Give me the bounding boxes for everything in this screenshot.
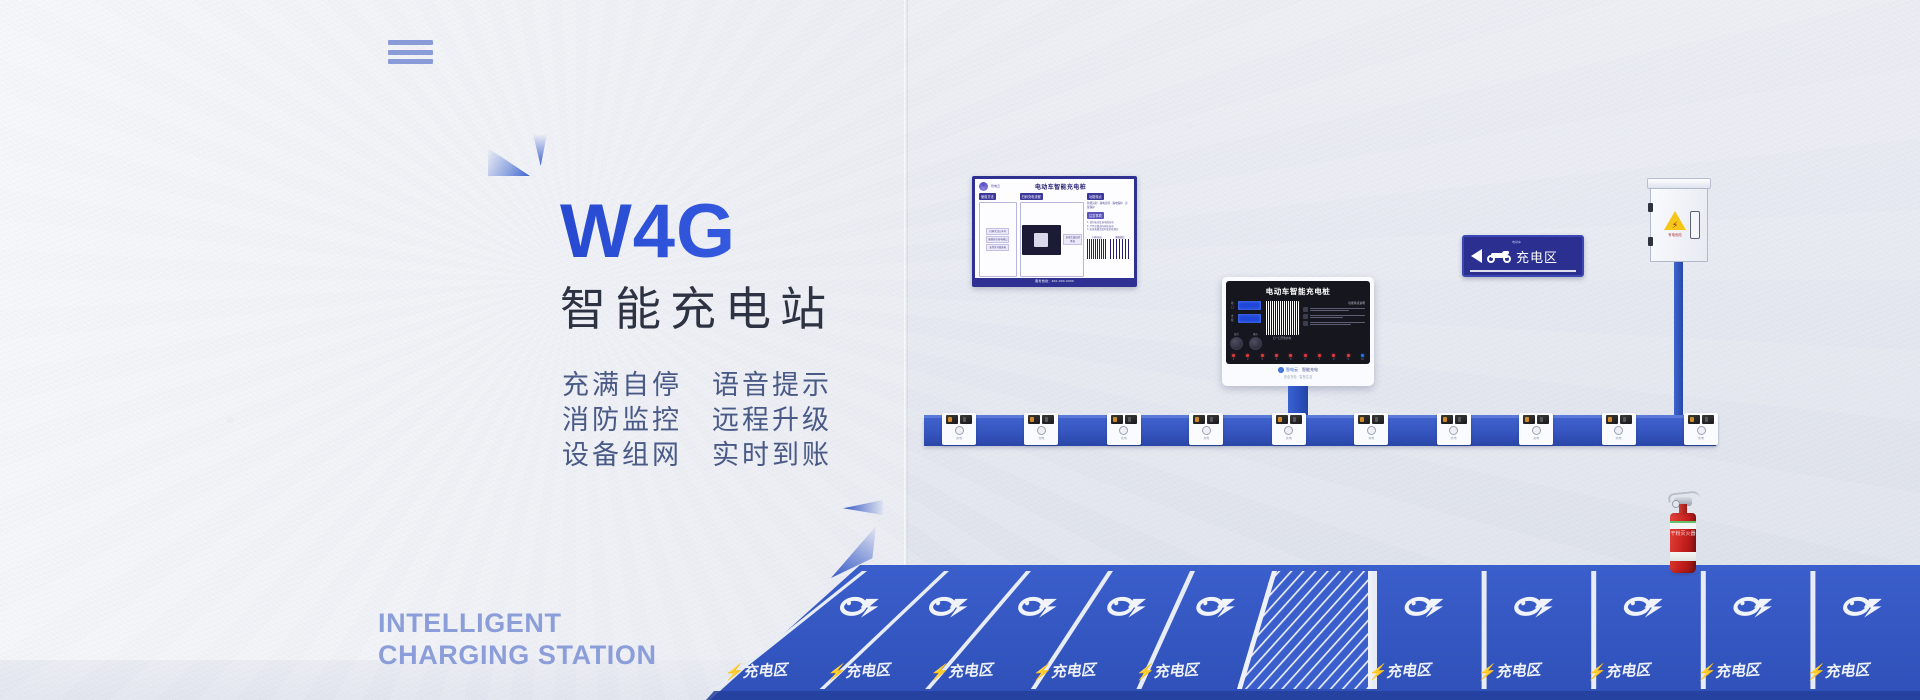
info-text [1310, 322, 1365, 325]
info-row [1303, 321, 1365, 326]
socket-button[interactable] [955, 426, 964, 435]
port-number: 2 [1247, 358, 1248, 361]
charging-pile-displays: 端口 金额 投币 刷 [1231, 301, 1261, 350]
hazard-bolt-icon: ⚡ [1664, 211, 1686, 230]
card-reader-icon[interactable] [1249, 337, 1262, 350]
feature-label: 充满自停 [562, 368, 682, 403]
pile-brand-text: 智电云 [1286, 367, 1298, 373]
display-label: 金额 [1231, 315, 1236, 321]
port-indicator[interactable]: 10 [1361, 354, 1364, 361]
socket-hole-right [1455, 415, 1467, 424]
socket-label: 充电 [1451, 436, 1457, 440]
wall-socket[interactable]: 充电 [1107, 413, 1141, 445]
port-indicator[interactable]: 9 [1347, 354, 1350, 361]
socket-label: 充电 [1616, 436, 1622, 440]
left-arrow-icon [1471, 249, 1482, 263]
poster-qr-group: 扫码充电 客服微信 [1087, 235, 1130, 259]
info-text [1310, 315, 1365, 318]
hazard-symbol: ⚡ [1672, 221, 1678, 230]
socket-holes [946, 415, 972, 424]
bay-label: ⚡充电区 [723, 661, 790, 682]
poster-qr-code-right [1110, 239, 1130, 259]
display-screen-2 [1238, 314, 1261, 323]
fire-extinguisher: 干粉灭火器 [1666, 490, 1700, 575]
port-number: 9 [1347, 358, 1348, 361]
bay-label: ⚡充电区 [826, 661, 893, 682]
info-title: 功能特点说明 [1303, 301, 1365, 305]
port-led-icon [1289, 354, 1292, 357]
socket-hole-left [1606, 415, 1618, 424]
knob-label: 刷卡 [1249, 332, 1262, 336]
socket-button[interactable] [1532, 426, 1541, 435]
port-led-icon [1275, 354, 1278, 357]
charging-pile-qr-caption: 扫一扫开始充电 [1265, 336, 1299, 340]
feature-row: 消防监控 远程升级 [562, 403, 832, 438]
socket-label: 充电 [1286, 436, 1292, 440]
direction-sign-label: 充电区 [1516, 247, 1558, 266]
port-indicator[interactable]: 8 [1332, 354, 1335, 361]
feature-label: 远程升级 [712, 403, 832, 438]
menu-bar-1 [388, 40, 433, 45]
sign-underline [1470, 270, 1576, 272]
knob-group[interactable]: 投币 刷卡 [1231, 332, 1261, 350]
bay-label: ⚡充电区 [1134, 661, 1201, 682]
hazard-text: 有电危险 [1661, 232, 1689, 237]
port-indicator[interactable]: 2 [1246, 354, 1249, 361]
socket-button[interactable] [1697, 426, 1706, 435]
port-number: 8 [1333, 358, 1334, 361]
charging-pile-title: 电动车智能充电桩 [1231, 286, 1365, 297]
wall-socket[interactable]: 充电 [1272, 413, 1306, 445]
poster-tag-mid: 扫码充电流程 [1020, 193, 1043, 200]
bay-label: ⚡充电区 [1032, 661, 1099, 682]
socket-hole-left [1028, 415, 1040, 424]
socket-hole-right [960, 415, 972, 424]
socket-label: 充电 [1203, 436, 1209, 440]
socket-holes [1523, 415, 1549, 424]
cabinet-handle[interactable] [1690, 211, 1700, 239]
parking-lot: ⚡充电区⚡充电区⚡充电区⚡充电区⚡充电区⚡充电区⚡充电区⚡充电区⚡充电区⚡充电区 [0, 565, 1920, 700]
port-led-icon [1361, 354, 1364, 357]
extinguisher-band-top [1670, 523, 1696, 529]
decor-triangle-a [488, 148, 530, 176]
info-row [1303, 314, 1365, 319]
port-indicator[interactable]: 6 [1304, 354, 1307, 361]
poster-tag-left: 使用方法 [979, 193, 996, 200]
poster-device-illustration: 充电完成自动断电 [1020, 202, 1084, 277]
socket-holes [1441, 415, 1467, 424]
socket-holes [1688, 415, 1714, 424]
poster-header: 智电云 电动车智能充电桩 [979, 182, 1130, 191]
port-led-icon [1347, 354, 1350, 357]
poster-tag-right: 功能特点 [1087, 193, 1104, 200]
extinguisher-label: 干粉灭火器 [1670, 532, 1696, 537]
port-indicator[interactable]: 7 [1318, 354, 1321, 361]
display-row: 金额 [1231, 314, 1261, 323]
port-indicator[interactable]: 5 [1289, 354, 1292, 361]
poster-col-left: 使用方法 扫码关注公众号 选择对应充电端口 支付并开始充电 [979, 193, 1017, 277]
feature-list: 充满自停 语音提示 消防监控 远程升级 设备组网 实时到账 [562, 368, 832, 473]
poster-device-icon [1022, 225, 1062, 255]
poster-content: 智电云 电动车智能充电桩 使用方法 扫码关注公众号 选择对应充电端口 支付并开始… [975, 179, 1134, 284]
charging-pile-middle: 端口 金额 投币 刷 [1231, 301, 1365, 350]
page-title-sub: 智能充电站 [560, 273, 835, 339]
socket-label: 充电 [1698, 436, 1704, 440]
poster-node: 扫码关注公众号 [986, 228, 1009, 235]
parking-lot-svg: ⚡充电区⚡充电区⚡充电区⚡充电区⚡充电区⚡充电区⚡充电区⚡充电区⚡充电区⚡充电区 [0, 565, 1920, 700]
feature-label: 语音提示 [712, 368, 832, 403]
socket-hole-left [1193, 415, 1205, 424]
port-led-icon [1318, 354, 1321, 357]
feature-row: 充满自停 语音提示 [562, 368, 832, 403]
feature-label: 实时到账 [712, 438, 832, 473]
charging-pile[interactable]: 电动车智能充电桩 端口 金额 投币 [1222, 277, 1374, 386]
port-number: 5 [1290, 358, 1291, 361]
poster-footer: 服务热线：400-000-0000 [975, 278, 1134, 284]
extinguisher-band-bottom [1670, 552, 1696, 561]
poster-node: 充电完成自动断电 [1063, 234, 1082, 244]
socket-hole-right [1537, 415, 1549, 424]
port-indicator[interactable]: 3 [1261, 354, 1264, 361]
port-indicator-row: 12345678910 [1231, 354, 1365, 361]
hero-banner: W4G 智能充电站 充满自停 语音提示 消防监控 远程升级 设备组网 实时到账 … [0, 0, 1920, 700]
socket-label: 充电 [1368, 436, 1374, 440]
port-number: 6 [1304, 358, 1305, 361]
port-number: 10 [1361, 358, 1364, 361]
cabinet-conduit [1674, 262, 1683, 422]
wall-socket[interactable]: 充电 [1437, 413, 1471, 445]
poster-qr-code-left [1087, 239, 1107, 259]
port-led-icon [1332, 354, 1335, 357]
info-row [1303, 307, 1365, 312]
socket-button[interactable] [1202, 426, 1211, 435]
menu-bar-3 [388, 59, 433, 64]
wall-socket[interactable]: 充电 [1024, 413, 1058, 445]
port-led-icon [1246, 354, 1249, 357]
socket-label: 充电 [1533, 436, 1539, 440]
poster-flow-left: 扫码关注公众号 选择对应充电端口 支付并开始充电 [979, 202, 1017, 277]
port-led-icon [1232, 354, 1235, 357]
socket-holes [1028, 415, 1054, 424]
socket-hole-right [1125, 415, 1137, 424]
wall-socket[interactable]: 充电 [1519, 413, 1553, 445]
socket-button[interactable] [1367, 426, 1376, 435]
socket-holes [1193, 415, 1219, 424]
feature-label: 设备组网 [562, 438, 682, 473]
socket-hole-left [1441, 415, 1453, 424]
bay-label: ⚡充电区 [1477, 661, 1544, 682]
poster-columns: 使用方法 扫码关注公众号 选择对应充电端口 支付并开始充电 扫码充电流程 [979, 193, 1130, 277]
port-led-icon [1304, 354, 1307, 357]
charging-pile-footnote: 安全充电 · 智慧生活 [1226, 374, 1370, 382]
wall-socket[interactable]: 充电 [1189, 413, 1223, 445]
bay-label: ⚡充电区 [1367, 661, 1434, 682]
poster-tag-right2: 注意事项 [1087, 212, 1104, 219]
cabinet-hinge-top [1648, 203, 1653, 212]
socket-label: 充电 [1121, 436, 1127, 440]
socket-hole-right [1372, 415, 1384, 424]
socket-label: 充电 [1038, 436, 1044, 440]
charging-pile-panel: 电动车智能充电桩 端口 金额 投币 [1226, 281, 1370, 364]
menu-bar-2 [388, 50, 433, 55]
feature-label: 消防监控 [562, 403, 682, 438]
feature-row: 设备组网 实时到账 [562, 438, 832, 473]
charging-pile-qr-code[interactable] [1265, 301, 1299, 335]
socket-hole-right [1207, 415, 1219, 424]
charging-pile-housing: 电动车智能充电桩 端口 金额 投币 [1222, 277, 1374, 386]
direction-sign[interactable]: 充电区 电动车 [1462, 235, 1584, 277]
poster-logo-icon [979, 182, 988, 191]
poster-note: 智能识别 · 满电自停 · 漏电保护 · 过载保护 [1087, 202, 1130, 210]
socket-hole-left [946, 415, 958, 424]
socket-hole-left [1523, 415, 1535, 424]
port-number: 1 [1233, 358, 1234, 361]
socket-holes [1358, 415, 1384, 424]
info-icon-2 [1303, 314, 1308, 319]
hamburger-menu-icon[interactable] [388, 40, 433, 64]
decorative-arrow-top [488, 148, 530, 176]
socket-holes [1606, 415, 1632, 424]
charging-pile-branding: 智电云 智能充电 [1226, 364, 1370, 374]
socket-button[interactable] [1119, 426, 1128, 435]
poster-node: 支付并开始充电 [986, 244, 1009, 251]
socket-hole-right [1290, 415, 1302, 424]
wall-poster-board: 智电云 电动车智能充电桩 使用方法 扫码关注公众号 选择对应充电端口 支付并开始… [972, 176, 1137, 287]
headline-block: W4G 智能充电站 [560, 195, 835, 339]
electrical-cabinet[interactable]: ⚡ 有电危险 [1650, 178, 1708, 263]
info-icon-1 [1303, 307, 1308, 312]
socket-hole-right [1620, 415, 1632, 424]
bay-label: ⚡充电区 [1805, 661, 1872, 682]
poster-col-right: 功能特点 智能识别 · 满电自停 · 漏电保护 · 过载保护 注意事项 1. 请… [1087, 193, 1130, 277]
socket-button[interactable] [1284, 426, 1293, 435]
poster-brand: 智电云 [991, 185, 1000, 188]
poster-device-screen [1034, 233, 1048, 247]
poster-warning: 3. 发现故障请及时联系管理员 [1087, 228, 1130, 232]
port-indicator[interactable]: 1 [1232, 354, 1235, 361]
socket-button[interactable] [1037, 426, 1046, 435]
port-indicator[interactable]: 4 [1275, 354, 1278, 361]
wall-socket[interactable]: 充电 [1684, 413, 1718, 445]
page-title-main: W4G [560, 195, 835, 269]
display-screen-1 [1238, 301, 1261, 310]
display-label: 端口 [1231, 302, 1236, 308]
display-row: 端口 [1231, 301, 1261, 310]
info-icon-3 [1303, 321, 1308, 326]
cabinet-hinge-bottom [1648, 237, 1653, 246]
poster-col-mid: 扫码充电流程 充电完成自动断电 [1020, 193, 1084, 277]
port-number: 7 [1319, 358, 1320, 361]
pile-brand-sub: 智能充电 [1302, 367, 1318, 373]
wall-socket[interactable]: 充电 [1354, 413, 1388, 445]
port-number: 3 [1261, 358, 1262, 361]
charging-pile-info: 功能特点说明 [1303, 301, 1365, 326]
wall-socket[interactable]: 充电 [1602, 413, 1636, 445]
wall-socket[interactable]: 充电 [942, 413, 976, 445]
socket-label: 充电 [956, 436, 962, 440]
socket-holes [1111, 415, 1137, 424]
socket-hole-left [1358, 415, 1370, 424]
port-led-icon [1261, 354, 1264, 357]
direction-sign-micro: 电动车 [1512, 240, 1521, 244]
socket-hole-right [1702, 415, 1714, 424]
charging-pile-qr-block[interactable]: 扫一扫开始充电 [1265, 301, 1299, 340]
info-text [1310, 308, 1365, 311]
brand-logo-icon [1278, 367, 1284, 373]
socket-hole-left [1688, 415, 1700, 424]
socket-holes [1276, 415, 1302, 424]
poster-node: 选择对应充电端口 [986, 236, 1009, 243]
socket-hole-left [1276, 415, 1288, 424]
knob-label: 投币 [1230, 332, 1243, 336]
port-number: 4 [1276, 358, 1277, 361]
socket-button[interactable] [1614, 426, 1623, 435]
poster-title: 电动车智能充电桩 [1003, 182, 1118, 191]
cabinet-body: ⚡ 有电危险 [1650, 188, 1708, 262]
socket-rail: 充电充电充电充电充电充电充电充电充电充电 [924, 418, 1716, 446]
socket-hole-right [1042, 415, 1054, 424]
bay-label: ⚡充电区 [929, 661, 996, 682]
bay-label: ⚡充电区 [1586, 661, 1653, 682]
socket-hole-left [1111, 415, 1123, 424]
scooter-icon [1487, 249, 1511, 263]
pile-brand: 智电云 [1278, 367, 1298, 373]
coin-slot-icon[interactable] [1230, 337, 1243, 350]
socket-button[interactable] [1449, 426, 1458, 435]
bay-label: ⚡充电区 [1696, 661, 1763, 682]
